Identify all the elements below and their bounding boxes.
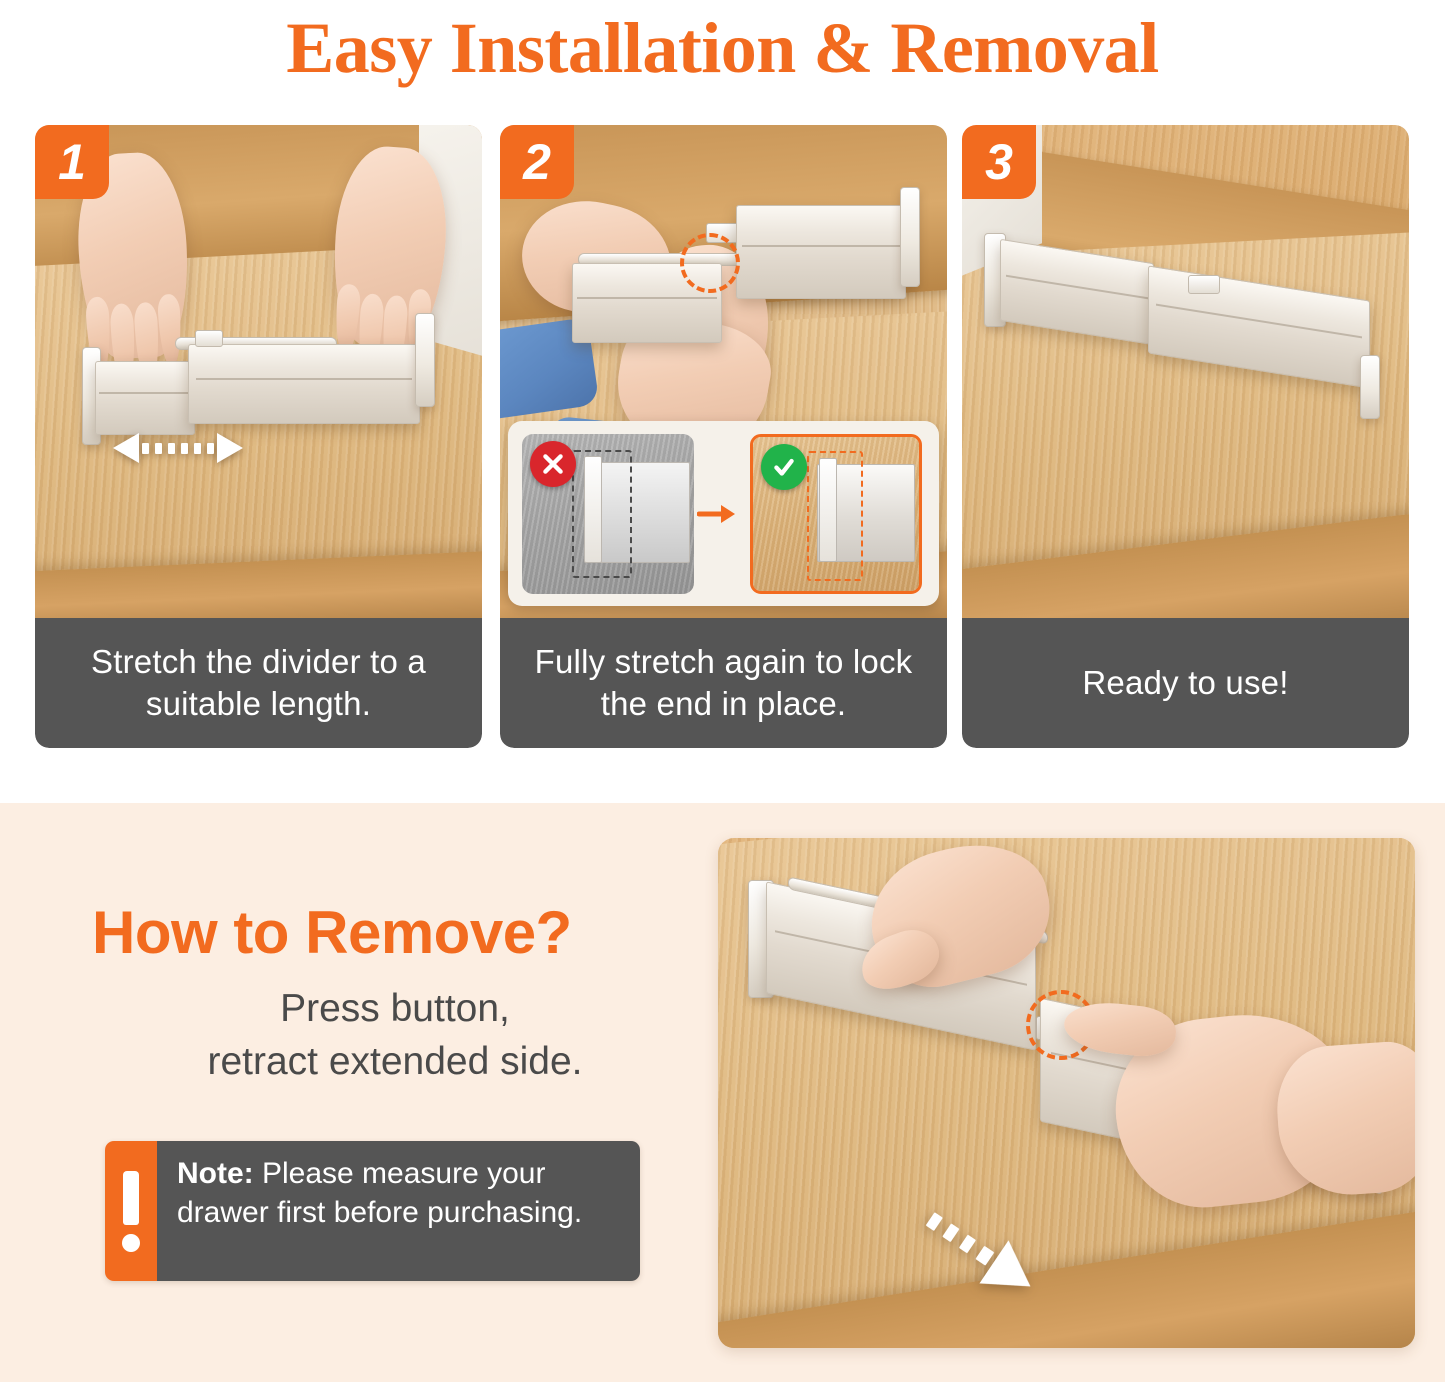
arrow-head-right-icon: [217, 433, 243, 463]
note-prefix: Note:: [177, 1157, 254, 1190]
inset-arrow: [694, 502, 740, 526]
arrow-dash: [926, 1212, 943, 1231]
step-1-photo: [35, 125, 482, 620]
arrow-dash: [959, 1235, 976, 1254]
arrow-dash: [168, 443, 175, 454]
wrong-way-photo: [522, 434, 694, 594]
divider-end-cap-right: [900, 187, 920, 287]
stretch-arrow: [113, 435, 261, 461]
step-card-1: 1 Stretch the divider to a suitable leng…: [35, 125, 482, 748]
divider-right-section: [188, 344, 420, 424]
divider-lock-knob: [195, 330, 223, 347]
step-2-photo: [500, 125, 947, 620]
exclamation-dot: [122, 1234, 140, 1252]
step-3-photo: [962, 125, 1409, 620]
divider-lock-knob: [1188, 275, 1220, 294]
arrow-head-left-icon: [113, 433, 139, 463]
page-title-bar: Easy Installation & Removal: [0, 0, 1445, 95]
step-badge-1: 1: [35, 125, 109, 199]
position-outline: [807, 451, 863, 581]
note-box: Note: Please measure your drawer first b…: [105, 1141, 640, 1281]
divider-end-cap-right: [1360, 355, 1380, 419]
removal-title: How to Remove?: [92, 898, 572, 967]
removal-subtitle-line-2: retract extended side.: [135, 1036, 655, 1089]
position-outline: [572, 450, 632, 578]
removal-subtitle-line-1: Press button,: [135, 983, 655, 1036]
arrow-dash: [181, 443, 188, 454]
exclamation-glyph: [123, 1171, 139, 1252]
correct-way-photo: [750, 434, 922, 594]
step-badge-2-number: 2: [523, 137, 551, 187]
arrow-dash: [207, 443, 214, 454]
exclamation-stem: [123, 1171, 139, 1225]
step-badge-1-number: 1: [58, 137, 86, 187]
steps-row: 1 Stretch the divider to a suitable leng…: [0, 125, 1445, 750]
arrow-dash: [194, 443, 201, 454]
page-title: Easy Installation & Removal: [286, 12, 1159, 84]
correct-mark-icon: [761, 444, 807, 490]
step-badge-2: 2: [500, 125, 574, 199]
comparison-inset: [508, 421, 939, 606]
removal-photo: [718, 838, 1415, 1348]
step-card-2: 2 Fully stretch again to lock the end in…: [500, 125, 947, 748]
note-text-container: Note: Please measure your drawer first b…: [157, 1141, 640, 1281]
divider-right-section: [736, 205, 906, 299]
removal-section: How to Remove? Press button, retract ext…: [0, 803, 1445, 1382]
step-3-caption-text: Ready to use!: [1082, 662, 1288, 704]
lock-highlight-circle: [680, 233, 740, 293]
step-badge-3-number: 3: [985, 137, 1013, 187]
step-2-caption: Fully stretch again to lock the end in p…: [500, 618, 947, 748]
wrong-mark-icon: [530, 441, 576, 487]
step-card-3: 3 Ready to use!: [962, 125, 1409, 748]
arrow-dash: [975, 1246, 994, 1266]
step-1-caption: Stretch the divider to a suitable length…: [35, 618, 482, 748]
arrow-dash: [942, 1223, 959, 1242]
step-2-caption-text: Fully stretch again to lock the end in p…: [514, 641, 933, 725]
divider-left-section: [95, 361, 195, 435]
removal-subtitle: Press button, retract extended side.: [135, 983, 655, 1088]
step-1-caption-text: Stretch the divider to a suitable length…: [49, 641, 468, 725]
step-badge-3: 3: [962, 125, 1036, 199]
arrow-dash: [155, 443, 162, 454]
exclamation-icon: [105, 1141, 157, 1281]
arrow-dash: [142, 443, 149, 454]
step-3-caption: Ready to use!: [962, 618, 1409, 748]
divider-end-cap-right: [415, 313, 435, 407]
